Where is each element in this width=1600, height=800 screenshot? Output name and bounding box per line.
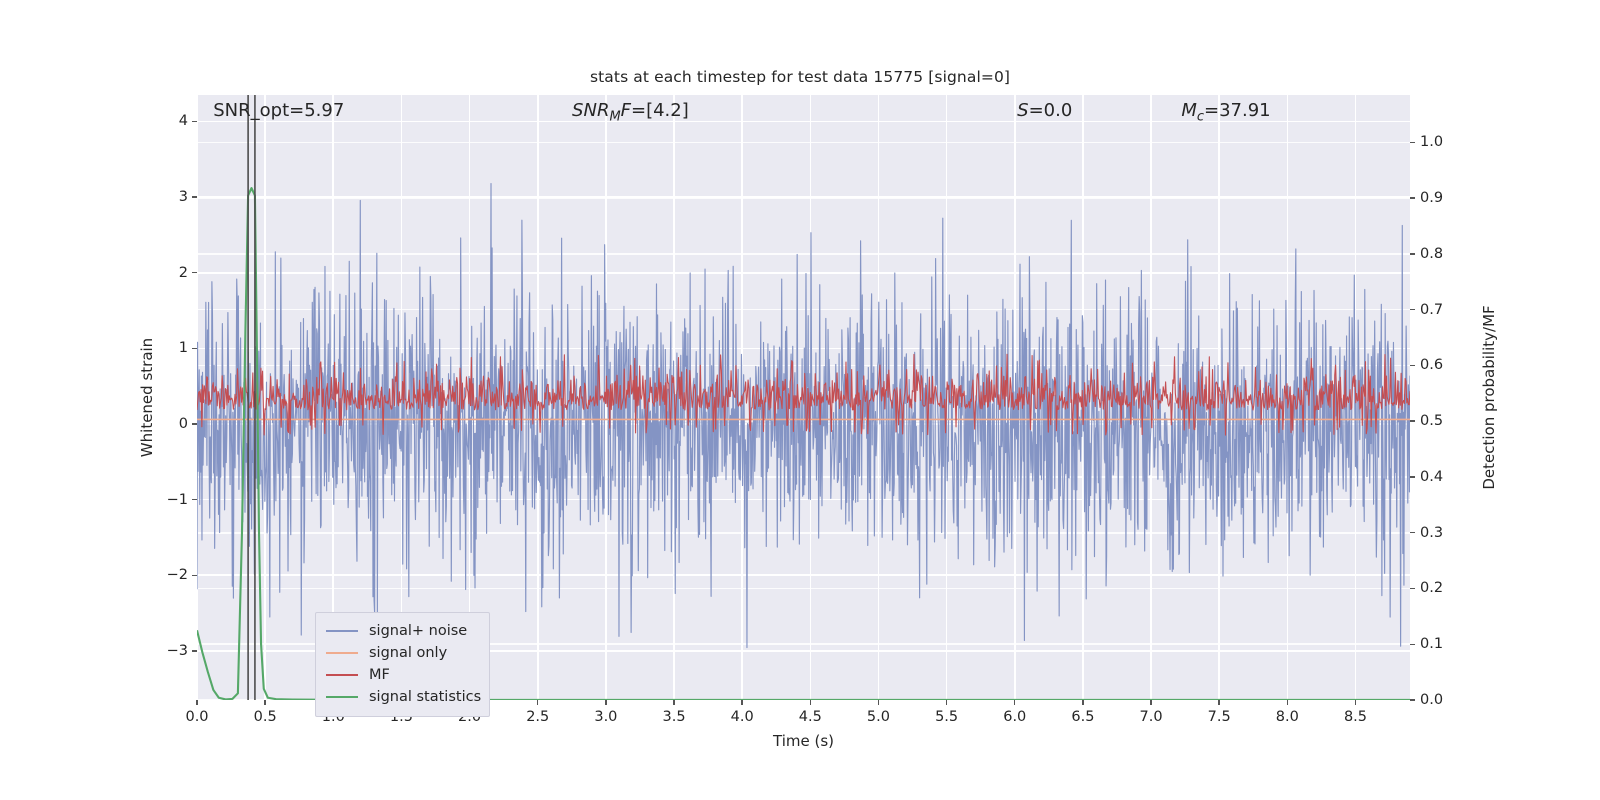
- x-tick-label: 5.0: [867, 709, 890, 725]
- x-tick-label: 8.5: [1344, 709, 1367, 725]
- plot-series-layer: [197, 95, 1410, 700]
- x-tick-mark: [264, 700, 265, 705]
- y-tick-mark-right: [1410, 644, 1415, 645]
- y-tick-mark-left: [192, 650, 197, 651]
- x-tick-mark: [946, 700, 947, 705]
- y-tick-label-left: −1: [167, 492, 188, 508]
- x-tick-mark: [196, 700, 197, 705]
- legend-item-signal-noise[interactable]: signal+ noise: [326, 620, 479, 642]
- y-tick-label-left: 3: [179, 189, 188, 205]
- y-tick-mark-right: [1410, 197, 1415, 198]
- legend-box[interactable]: signal+ noisesignal onlyMFsignal statist…: [315, 612, 490, 717]
- legend-label: signal+ noise: [369, 623, 467, 639]
- x-tick-mark: [1287, 700, 1288, 705]
- x-tick-mark: [878, 700, 879, 705]
- x-tick-label: 7.5: [1208, 709, 1231, 725]
- series-signal-plus-noise: [197, 184, 1410, 648]
- y-tick-label-left: 1: [179, 340, 188, 356]
- y-tick-mark-left: [192, 423, 197, 424]
- x-tick-label: 0.5: [254, 709, 277, 725]
- legend-item-signal-statistics[interactable]: signal statistics: [326, 686, 479, 708]
- x-tick-mark: [605, 700, 606, 705]
- y-tick-mark-right: [1410, 532, 1415, 533]
- y-tick-label-right: 0.5: [1420, 413, 1443, 429]
- x-tick-mark: [741, 700, 742, 705]
- y-tick-label-left: −2: [167, 567, 188, 583]
- x-axis-label: Time (s): [197, 732, 1410, 750]
- x-tick-mark: [673, 700, 674, 705]
- x-tick-label: 4.0: [731, 709, 754, 725]
- figure-canvas: stats at each timestep for test data 157…: [0, 0, 1600, 800]
- legend-swatch-icon: [326, 674, 358, 676]
- legend-item-mf[interactable]: MF: [326, 664, 479, 686]
- y-tick-mark-left: [192, 499, 197, 500]
- chart-title: stats at each timestep for test data 157…: [0, 68, 1600, 86]
- y-tick-mark-right: [1410, 309, 1415, 310]
- x-tick-mark: [810, 700, 811, 705]
- x-tick-mark: [1014, 700, 1015, 705]
- legend-swatch-icon: [326, 630, 358, 632]
- y-tick-label-right: 0.0: [1420, 692, 1443, 708]
- x-tick-mark: [1218, 700, 1219, 705]
- y-tick-mark-left: [192, 348, 197, 349]
- y-tick-label-right: 1.0: [1420, 134, 1443, 150]
- y-tick-label-left: −3: [167, 643, 188, 659]
- y-tick-mark-right: [1410, 142, 1415, 143]
- annotation-snr-opt: SNR_opt=5.97: [213, 100, 344, 121]
- y-tick-label-right: 0.6: [1420, 357, 1443, 373]
- y-tick-mark-left: [192, 196, 197, 197]
- y-axis-label-left: Whitened strain: [138, 338, 156, 457]
- legend-swatch-icon: [326, 652, 358, 654]
- y-tick-label-right: 0.1: [1420, 636, 1443, 652]
- y-axis-label-right: Detection probability/MF: [1480, 305, 1498, 489]
- y-tick-mark-left: [192, 272, 197, 273]
- y-tick-label-right: 0.2: [1420, 580, 1443, 596]
- annotation-s-value: S=0.0: [1017, 100, 1072, 121]
- annotation-snr-mf: SNRMF=[4.2]: [572, 100, 689, 125]
- y-tick-mark-right: [1410, 588, 1415, 589]
- x-tick-label: 0.0: [185, 709, 208, 725]
- plot-area: [197, 95, 1410, 700]
- y-tick-mark-right: [1410, 365, 1415, 366]
- legend-label: signal only: [369, 645, 447, 661]
- x-tick-label: 8.0: [1276, 709, 1299, 725]
- legend-label: signal statistics: [369, 689, 481, 705]
- y-tick-label-right: 0.9: [1420, 190, 1443, 206]
- annotation-chirp-mass: Mc=37.91: [1181, 100, 1270, 125]
- x-tick-mark: [537, 700, 538, 705]
- x-tick-mark: [1355, 700, 1356, 705]
- y-tick-label-left: 0: [179, 416, 188, 432]
- y-tick-label-right: 0.7: [1420, 302, 1443, 318]
- y-tick-label-right: 0.8: [1420, 246, 1443, 262]
- y-tick-mark-right: [1410, 476, 1415, 477]
- x-tick-label: 5.5: [935, 709, 958, 725]
- x-tick-mark: [1150, 700, 1151, 705]
- x-tick-label: 6.0: [1003, 709, 1026, 725]
- x-tick-label: 3.5: [662, 709, 685, 725]
- y-tick-label-right: 0.3: [1420, 525, 1443, 541]
- x-tick-label: 6.5: [1071, 709, 1094, 725]
- x-tick-label: 4.5: [799, 709, 822, 725]
- x-tick-label: 3.0: [594, 709, 617, 725]
- legend-label: MF: [369, 667, 390, 683]
- y-tick-mark-right: [1410, 420, 1415, 421]
- legend-item-signal-only[interactable]: signal only: [326, 642, 479, 664]
- x-tick-label: 7.0: [1140, 709, 1163, 725]
- y-tick-label-left: 2: [179, 265, 188, 281]
- y-tick-label-right: 0.4: [1420, 469, 1443, 485]
- x-tick-label: 2.5: [526, 709, 549, 725]
- legend-swatch-icon: [326, 696, 358, 698]
- y-tick-mark-right: [1410, 253, 1415, 254]
- y-tick-mark-right: [1410, 699, 1415, 700]
- y-tick-mark-left: [192, 121, 197, 122]
- y-tick-label-left: 4: [179, 113, 188, 129]
- y-tick-mark-left: [192, 575, 197, 576]
- x-tick-mark: [1082, 700, 1083, 705]
